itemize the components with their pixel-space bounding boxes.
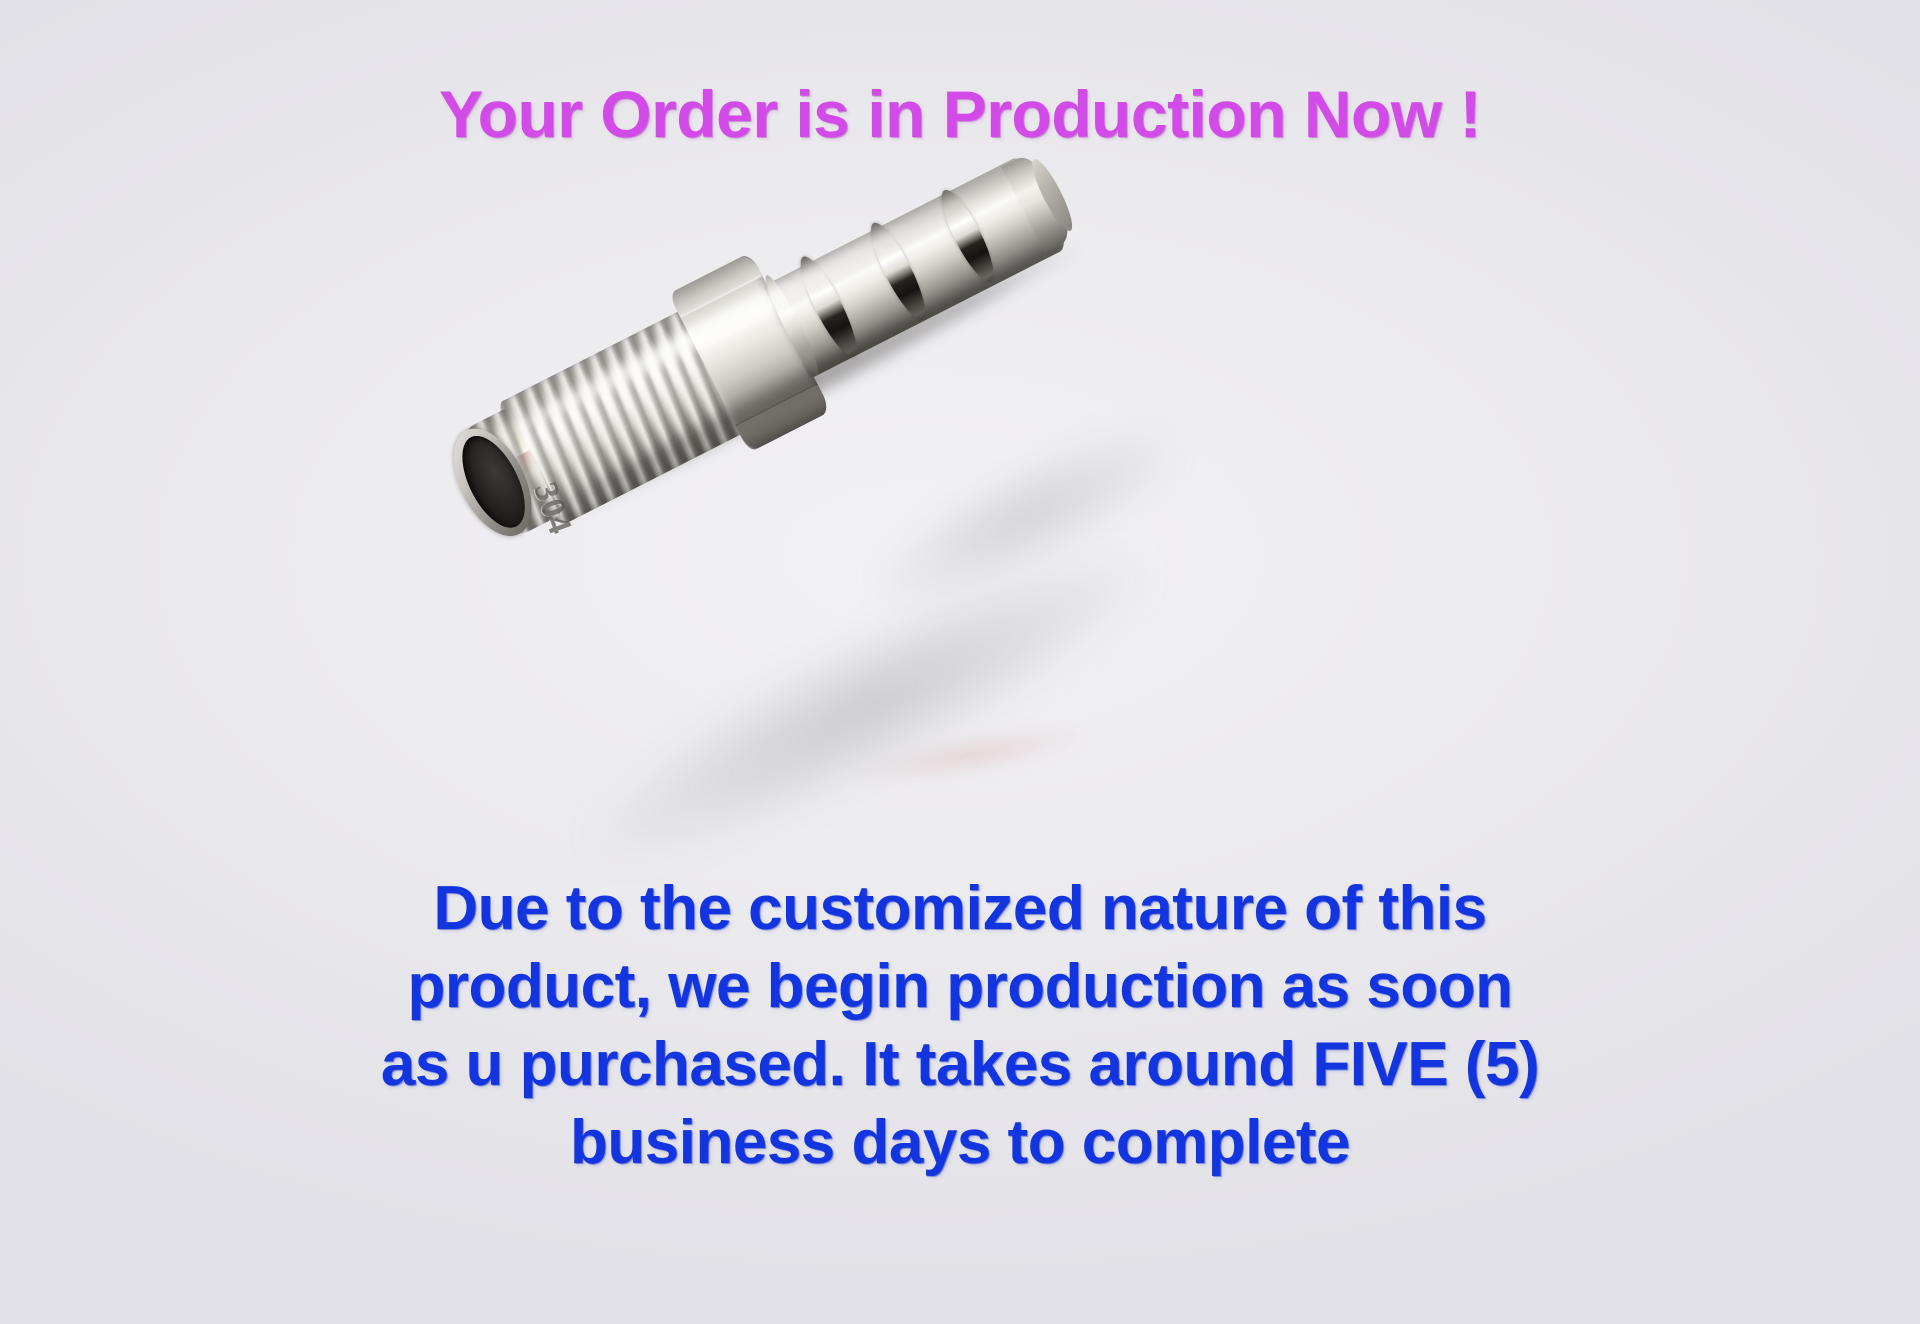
hex-facet-edge-top: [680, 275, 763, 319]
hex-facet-edge-bottom: [735, 383, 818, 427]
product-photo: 304: [0, 0, 1920, 1324]
promo-banner: { "banner": { "headline": "Your Order is…: [0, 0, 1920, 1324]
